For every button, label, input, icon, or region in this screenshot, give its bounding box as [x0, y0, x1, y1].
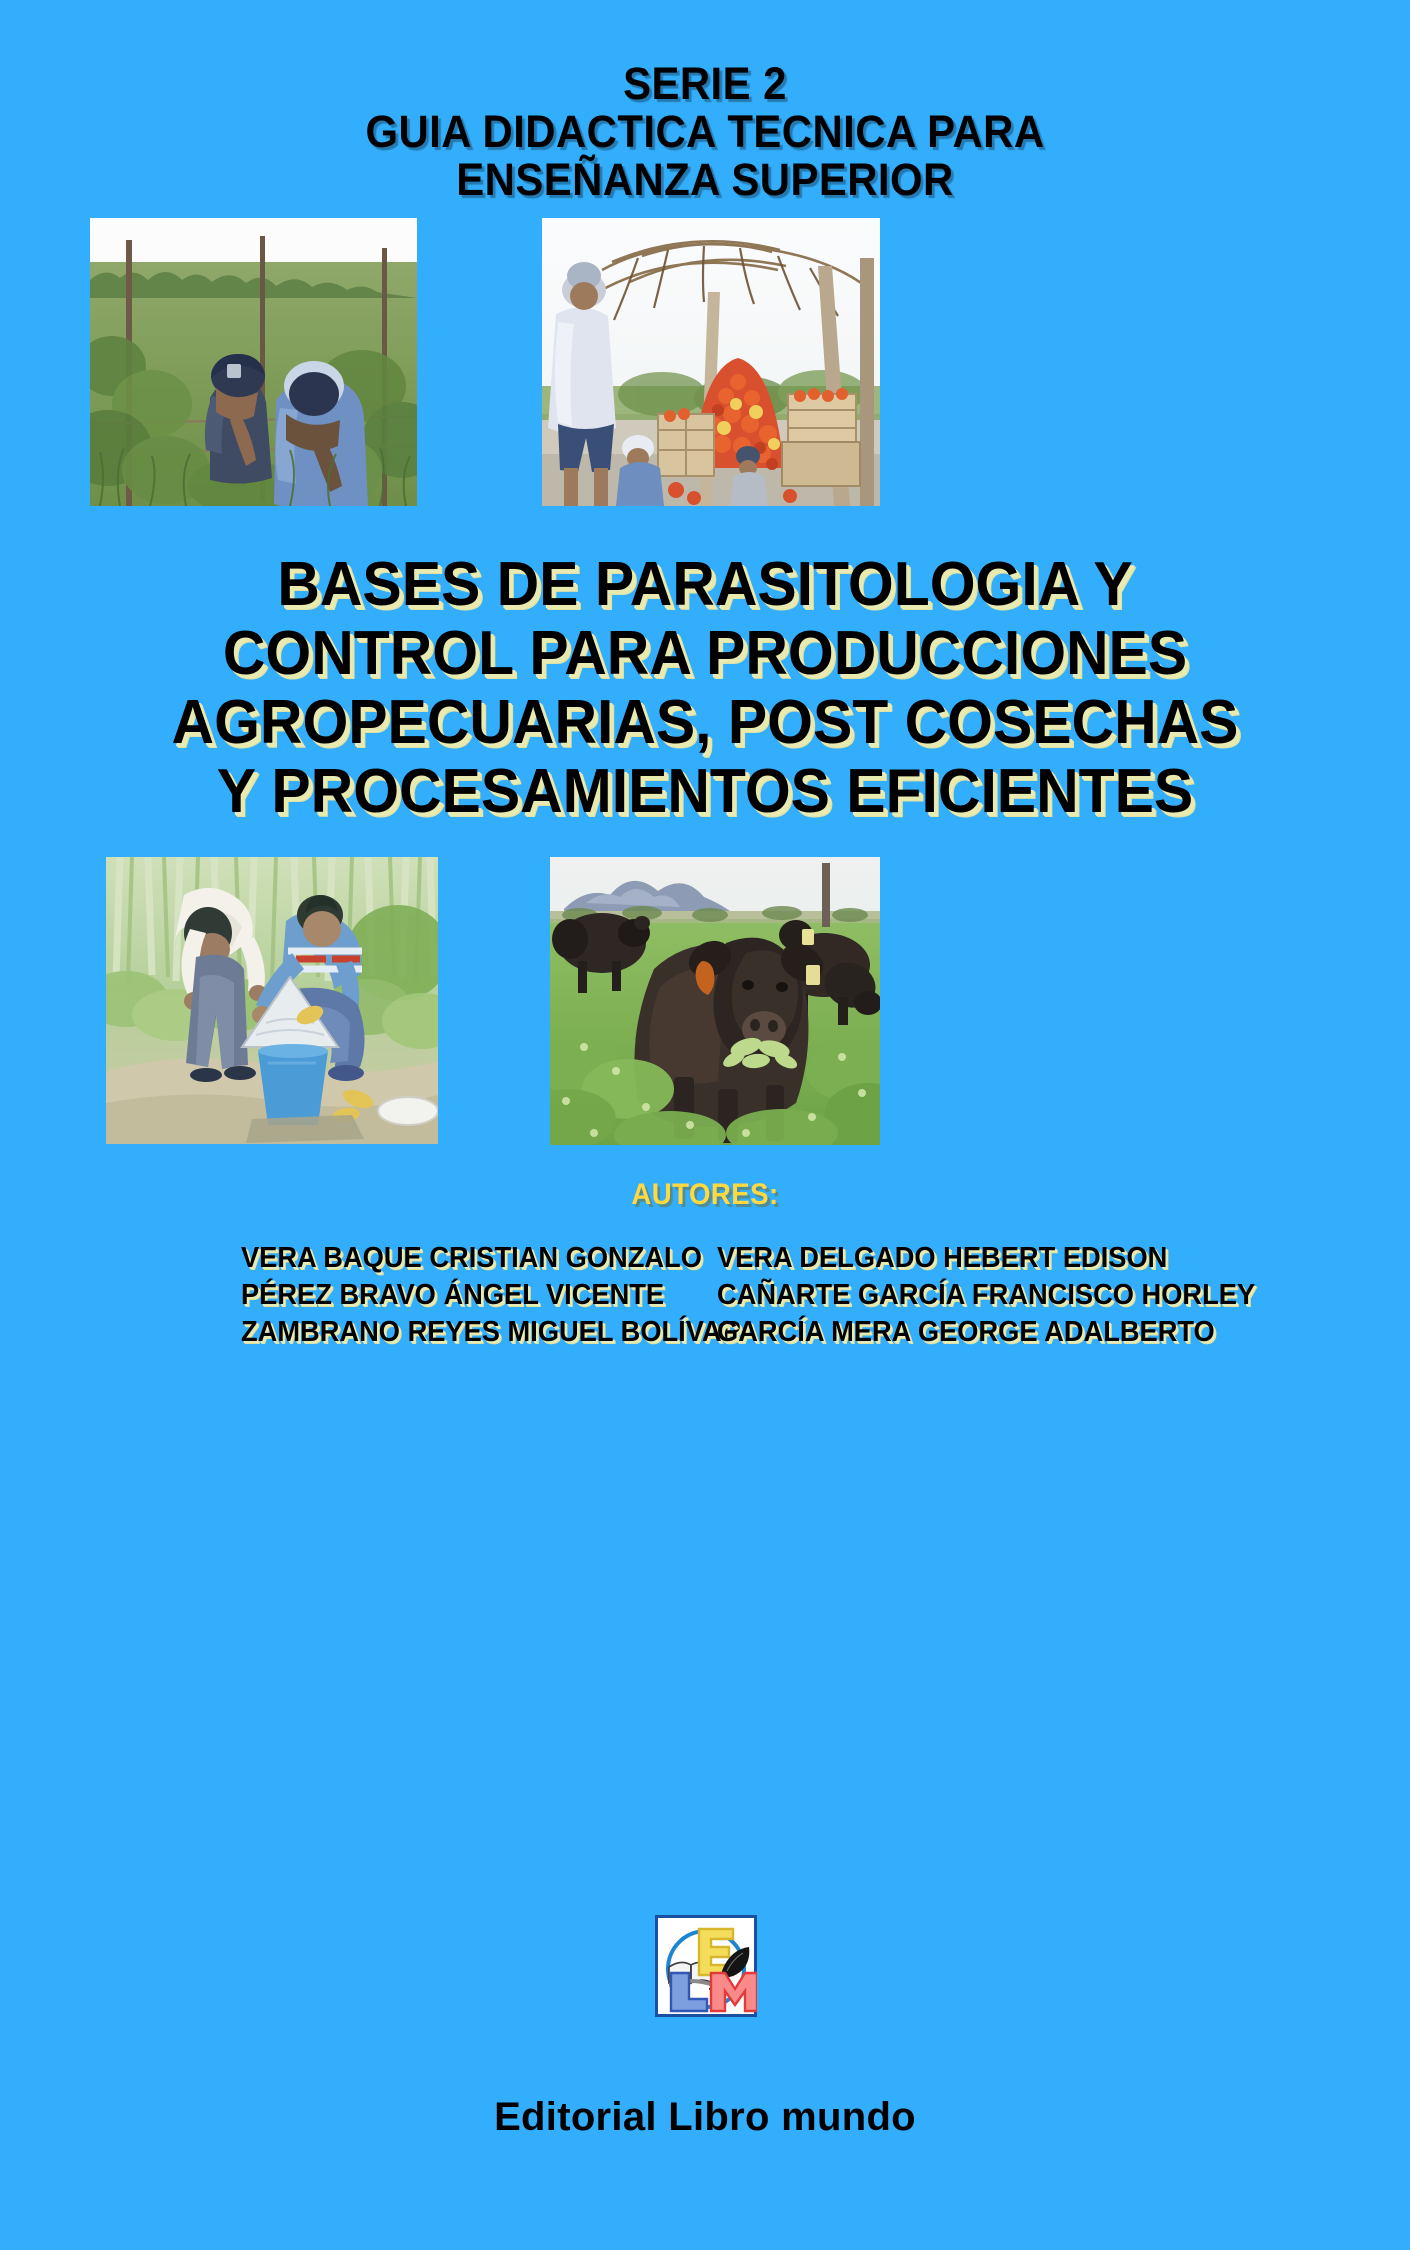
photo-tomatoes — [542, 218, 880, 506]
title-line-4: Y PROCESAMIENTOS EFICIENTES — [35, 757, 1375, 826]
authors-column-left: VERA BAQUE CRISTIAN GONZALO PÉREZ BRAVO … — [223, 1240, 701, 1351]
authors-grid: VERA BAQUE CRISTIAN GONZALO PÉREZ BRAVO … — [0, 1240, 1410, 1351]
author-name: ZAMBRANO REYES MIGUEL BOLÍVAR — [241, 1314, 673, 1351]
header-line-guide: GUIA DIDACTICA TECNICA PARA — [49, 108, 1360, 156]
authors-section: AUTORES: VERA BAQUE CRISTIAN GONZALO PÉR… — [0, 1178, 1410, 1351]
title-line-3: AGROPECUARIAS, POST COSECHAS — [35, 688, 1375, 757]
header-line-series: SERIE 2 — [49, 60, 1360, 108]
authors-column-right: VERA DELGADO HEBERT EDISON CAÑARTE GARCÍ… — [701, 1240, 1187, 1351]
header-line-level: ENSEÑANZA SUPERIOR — [49, 156, 1360, 204]
photo-field — [90, 218, 417, 506]
author-name: GARCÍA MERA GEORGE ADALBERTO — [717, 1314, 1159, 1351]
author-name: PÉREZ BRAVO ÁNGEL VICENTE — [241, 1277, 673, 1314]
authors-heading: AUTORES: — [56, 1178, 1353, 1212]
photo-cattle — [550, 857, 880, 1145]
book-title: BASES DE PARASITOLOGIA Y CONTROL PARA PR… — [0, 550, 1410, 826]
author-name: VERA DELGADO HEBERT EDISON — [717, 1240, 1159, 1277]
author-name: VERA BAQUE CRISTIAN GONZALO — [241, 1240, 673, 1277]
title-line-1: BASES DE PARASITOLOGIA Y — [35, 550, 1375, 619]
title-line-2: CONTROL PARA PRODUCCIONES — [35, 619, 1375, 688]
series-header: SERIE 2 GUIA DIDACTICA TECNICA PARA ENSE… — [0, 60, 1410, 204]
photo-sieving — [106, 857, 438, 1144]
book-cover: SERIE 2 GUIA DIDACTICA TECNICA PARA ENSE… — [0, 0, 1410, 2250]
editorial-libro-mundo-logo — [655, 1915, 757, 2017]
author-name: CAÑARTE GARCÍA FRANCISCO HORLEY — [717, 1277, 1159, 1314]
publisher-name: Editorial Libro mundo — [0, 2095, 1410, 2140]
